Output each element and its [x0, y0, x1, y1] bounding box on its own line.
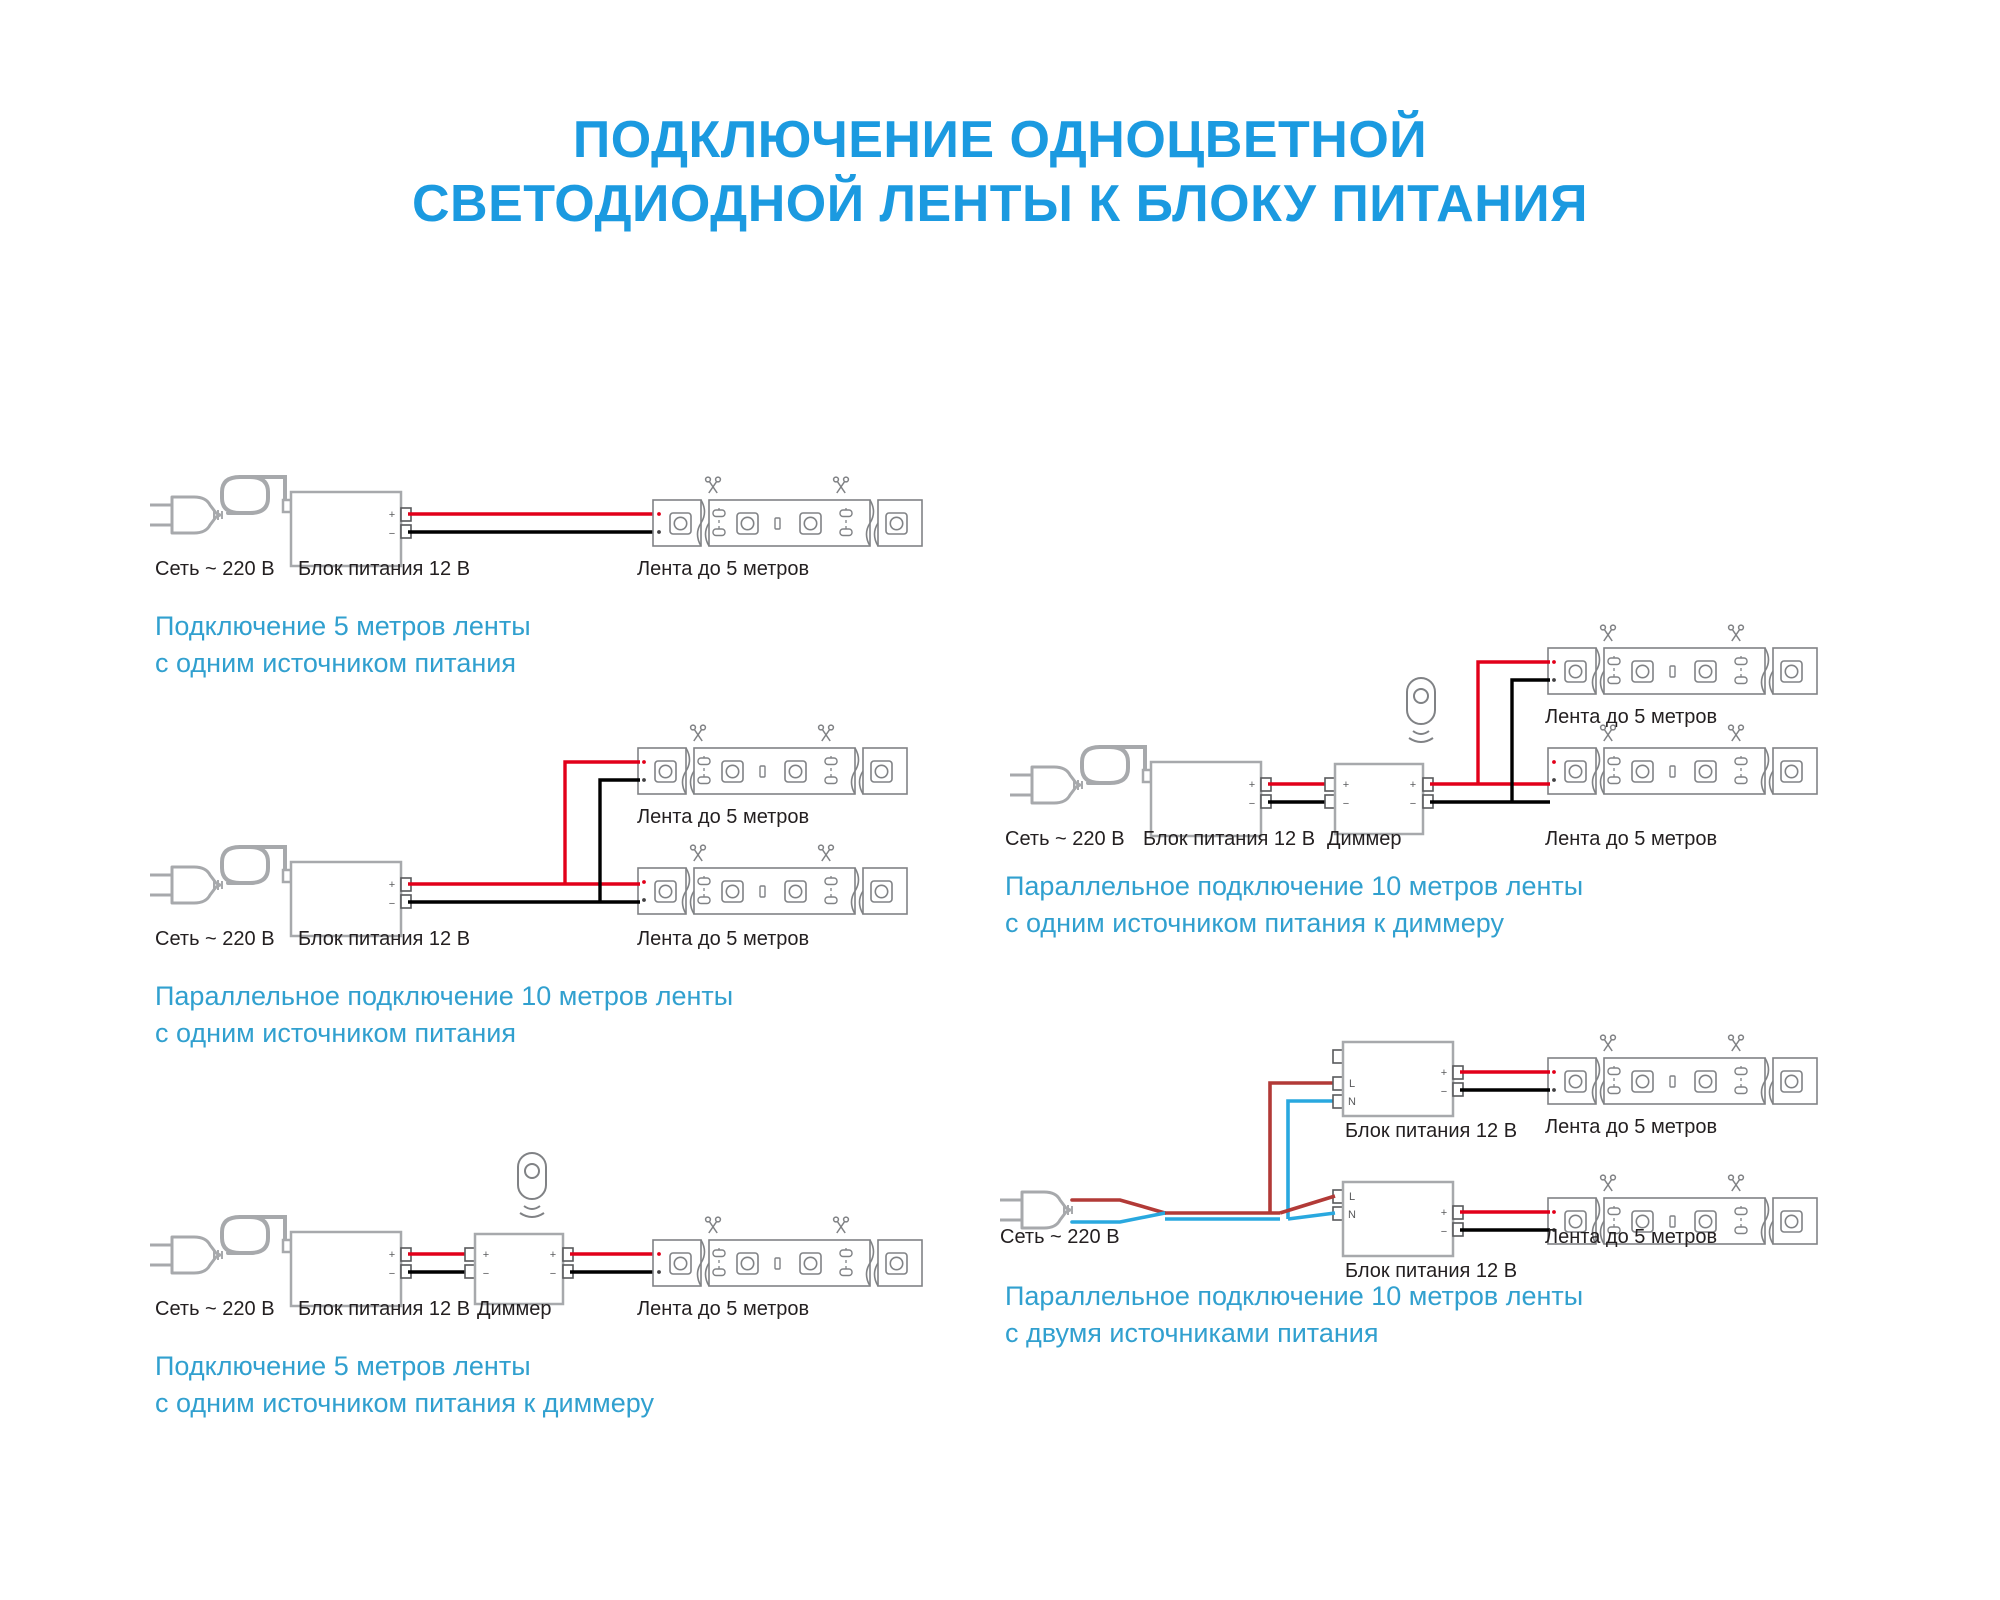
poster-root: ПОДКЛЮЧЕНИЕ ОДНОЦВЕТНОЙ СВЕТОДИОДНОЙ ЛЕН…	[0, 0, 2000, 1600]
label-mains: Сеть ~ 220 В	[155, 1298, 275, 1321]
power-plug-icon	[1000, 1192, 1072, 1228]
led-chip-icon	[1565, 761, 1586, 782]
label-psu: Блок питания 12 В	[298, 558, 470, 581]
svg-text:+: +	[1249, 779, 1255, 791]
led-chip-icon	[1632, 661, 1653, 682]
caption-line-2: с одним источником питания	[155, 645, 531, 682]
power-supply-body	[291, 862, 401, 936]
label-dimmer: Диммер	[477, 1298, 551, 1321]
power-supply-body	[291, 1232, 401, 1306]
scissors-cut-icon	[1601, 1035, 1616, 1051]
scissors-cut-icon	[1729, 1175, 1744, 1191]
caption-line-2: с одним источником питания	[155, 1015, 733, 1052]
wire-neutral-ac	[1072, 1213, 1165, 1222]
power-supply-body	[1343, 1042, 1453, 1116]
svg-text:+: +	[389, 1249, 395, 1261]
power-plug-icon	[150, 867, 222, 903]
strip-resistor-icon	[1670, 766, 1675, 777]
wire-neutral-tap	[1288, 1213, 1335, 1219]
scissors-cut-icon	[1729, 1035, 1744, 1051]
led-chip-icon	[737, 1253, 758, 1274]
strip-resistor-icon	[775, 1258, 780, 1269]
led-chip-icon	[1781, 1071, 1802, 1092]
led-chip-icon	[1695, 1071, 1716, 1092]
caption-line-2: с двумя источниками питания	[1005, 1315, 1583, 1352]
led-chip-icon	[871, 761, 892, 782]
led-chip-icon	[670, 513, 691, 534]
label-dimmer: Диммер	[1327, 828, 1401, 851]
scissors-cut-icon	[691, 845, 706, 861]
led-chip-icon	[1695, 761, 1716, 782]
led-chip-icon	[1632, 761, 1653, 782]
caption-parallel-10m-two-psu: Параллельное подключение 10 метров ленты…	[1005, 1278, 1583, 1351]
led-chip-icon	[1565, 1071, 1586, 1092]
label-psu: Блок питания 12 В	[298, 928, 470, 951]
scissors-cut-icon	[819, 725, 834, 741]
wire-neutral-riser	[1288, 1101, 1333, 1219]
svg-text:+: +	[483, 1249, 489, 1261]
caption-line-1: Параллельное подключение 10 метров ленты	[1005, 868, 1583, 905]
label-strip: Лента до 5 метров	[637, 558, 809, 581]
power-plug-icon	[150, 497, 222, 533]
remote-control-icon	[518, 1153, 546, 1199]
led-chip-icon	[1781, 661, 1802, 682]
label-strip-top: Лента до 5 метров	[637, 806, 809, 829]
svg-text:+: +	[550, 1249, 556, 1261]
caption-line-2: с одним источником питания к диммеру	[155, 1385, 654, 1422]
label-strip: Лента до 5 метров	[637, 1298, 809, 1321]
strip-resistor-icon	[1670, 1076, 1675, 1087]
diagram-parallel-10m-one-psu-dimmer: + − + − + −	[1010, 625, 1817, 836]
svg-text:−: −	[1249, 798, 1255, 810]
label-psu-top: Блок питания 12 В	[1345, 1120, 1517, 1143]
scissors-cut-icon	[706, 477, 721, 493]
caption-line-1: Подключение 5 метров ленты	[155, 1348, 654, 1385]
svg-text:L: L	[1349, 1191, 1355, 1203]
svg-text:+: +	[1410, 779, 1416, 791]
caption-line-1: Подключение 5 метров ленты	[155, 608, 531, 645]
label-psu: Блок питания 12 В	[298, 1298, 470, 1321]
scissors-cut-icon	[1729, 725, 1744, 741]
svg-text:+: +	[1441, 1207, 1447, 1219]
svg-text:−: −	[389, 1268, 395, 1280]
scissors-cut-icon	[819, 845, 834, 861]
label-strip-bottom: Лента до 5 метров	[637, 928, 809, 951]
strip-resistor-icon	[1670, 666, 1675, 677]
svg-text:+: +	[389, 879, 395, 891]
led-chip-icon	[737, 513, 758, 534]
label-mains: Сеть ~ 220 В	[1005, 828, 1125, 851]
led-chip-icon	[1632, 1071, 1653, 1092]
caption-line-1: Параллельное подключение 10 метров ленты	[1005, 1278, 1583, 1315]
svg-text:−: −	[389, 528, 395, 540]
svg-text:−: −	[1441, 1086, 1447, 1098]
led-chip-icon	[871, 881, 892, 902]
scissors-cut-icon	[834, 477, 849, 493]
led-chip-icon	[670, 1253, 691, 1274]
led-chip-icon	[1781, 761, 1802, 782]
svg-text:N: N	[1348, 1096, 1356, 1108]
svg-text:−: −	[1343, 798, 1349, 810]
label-strip-bottom: Лента до 5 метров	[1545, 1226, 1717, 1249]
scissors-cut-icon	[1601, 1175, 1616, 1191]
caption-single-5m: Подключение 5 метров ленты с одним источ…	[155, 608, 531, 681]
caption-line-2: с одним источником питания к диммеру	[1005, 905, 1583, 942]
scissors-cut-icon	[1601, 625, 1616, 641]
wire-line-ac	[1072, 1200, 1165, 1213]
svg-text:−: −	[1410, 798, 1416, 810]
power-supply-body	[1343, 1182, 1453, 1256]
svg-text:+: +	[389, 509, 395, 521]
power-plug-icon	[150, 1237, 222, 1273]
led-chip-icon	[785, 881, 806, 902]
label-strip-top: Лента до 5 метров	[1545, 1116, 1717, 1139]
svg-text:−: −	[1441, 1226, 1447, 1238]
caption-parallel-10m-one-psu: Параллельное подключение 10 метров ленты…	[155, 978, 733, 1051]
caption-single-5m-dimmer: Подключение 5 метров ленты с одним источ…	[155, 1348, 654, 1421]
svg-text:−: −	[550, 1268, 556, 1280]
strip-resistor-icon	[775, 518, 780, 529]
led-chip-icon	[722, 881, 743, 902]
label-mains: Сеть ~ 220 В	[155, 558, 275, 581]
caption-line-1: Параллельное подключение 10 метров ленты	[155, 978, 733, 1015]
led-chip-icon	[655, 881, 676, 902]
remote-control-icon	[1407, 678, 1435, 724]
led-chip-icon	[785, 761, 806, 782]
diagram-single-5m-dimmer: + − + − + −	[150, 1153, 922, 1306]
scissors-cut-icon	[1729, 625, 1744, 641]
diagram-parallel-10m-one-psu: + −	[150, 725, 907, 936]
led-chip-icon	[800, 513, 821, 534]
led-chip-icon	[800, 1253, 821, 1274]
label-mains: Сеть ~ 220 В	[1000, 1226, 1120, 1249]
led-chip-icon	[655, 761, 676, 782]
strip-resistor-icon	[760, 766, 765, 777]
power-plug-icon	[1010, 767, 1082, 803]
label-strip-bottom: Лента до 5 метров	[1545, 828, 1717, 851]
scissors-cut-icon	[706, 1217, 721, 1233]
caption-parallel-10m-one-psu-dimmer: Параллельное подключение 10 метров ленты…	[1005, 868, 1583, 941]
svg-text:+: +	[1343, 779, 1349, 791]
scissors-cut-icon	[834, 1217, 849, 1233]
label-psu: Блок питания 12 В	[1143, 828, 1315, 851]
led-chip-icon	[886, 513, 907, 534]
svg-text:−: −	[483, 1268, 489, 1280]
led-chip-icon	[1695, 661, 1716, 682]
diagram-single-5m: + −	[150, 477, 922, 566]
label-mains: Сеть ~ 220 В	[155, 928, 275, 951]
svg-text:−: −	[389, 898, 395, 910]
label-strip-top: Лента до 5 метров	[1545, 706, 1717, 729]
svg-text:+: +	[1441, 1067, 1447, 1079]
svg-text:L: L	[1349, 1078, 1355, 1090]
scissors-cut-icon	[691, 725, 706, 741]
led-chip-icon	[722, 761, 743, 782]
led-chip-icon	[1781, 1211, 1802, 1232]
power-supply-body	[1151, 762, 1261, 836]
svg-text:N: N	[1348, 1209, 1356, 1221]
strip-resistor-icon	[760, 886, 765, 897]
power-supply-body	[291, 492, 401, 566]
led-chip-icon	[886, 1253, 907, 1274]
led-chip-icon	[1565, 661, 1586, 682]
diagram-parallel-10m-two-psu: L N + − L N + −	[1000, 1035, 1817, 1256]
